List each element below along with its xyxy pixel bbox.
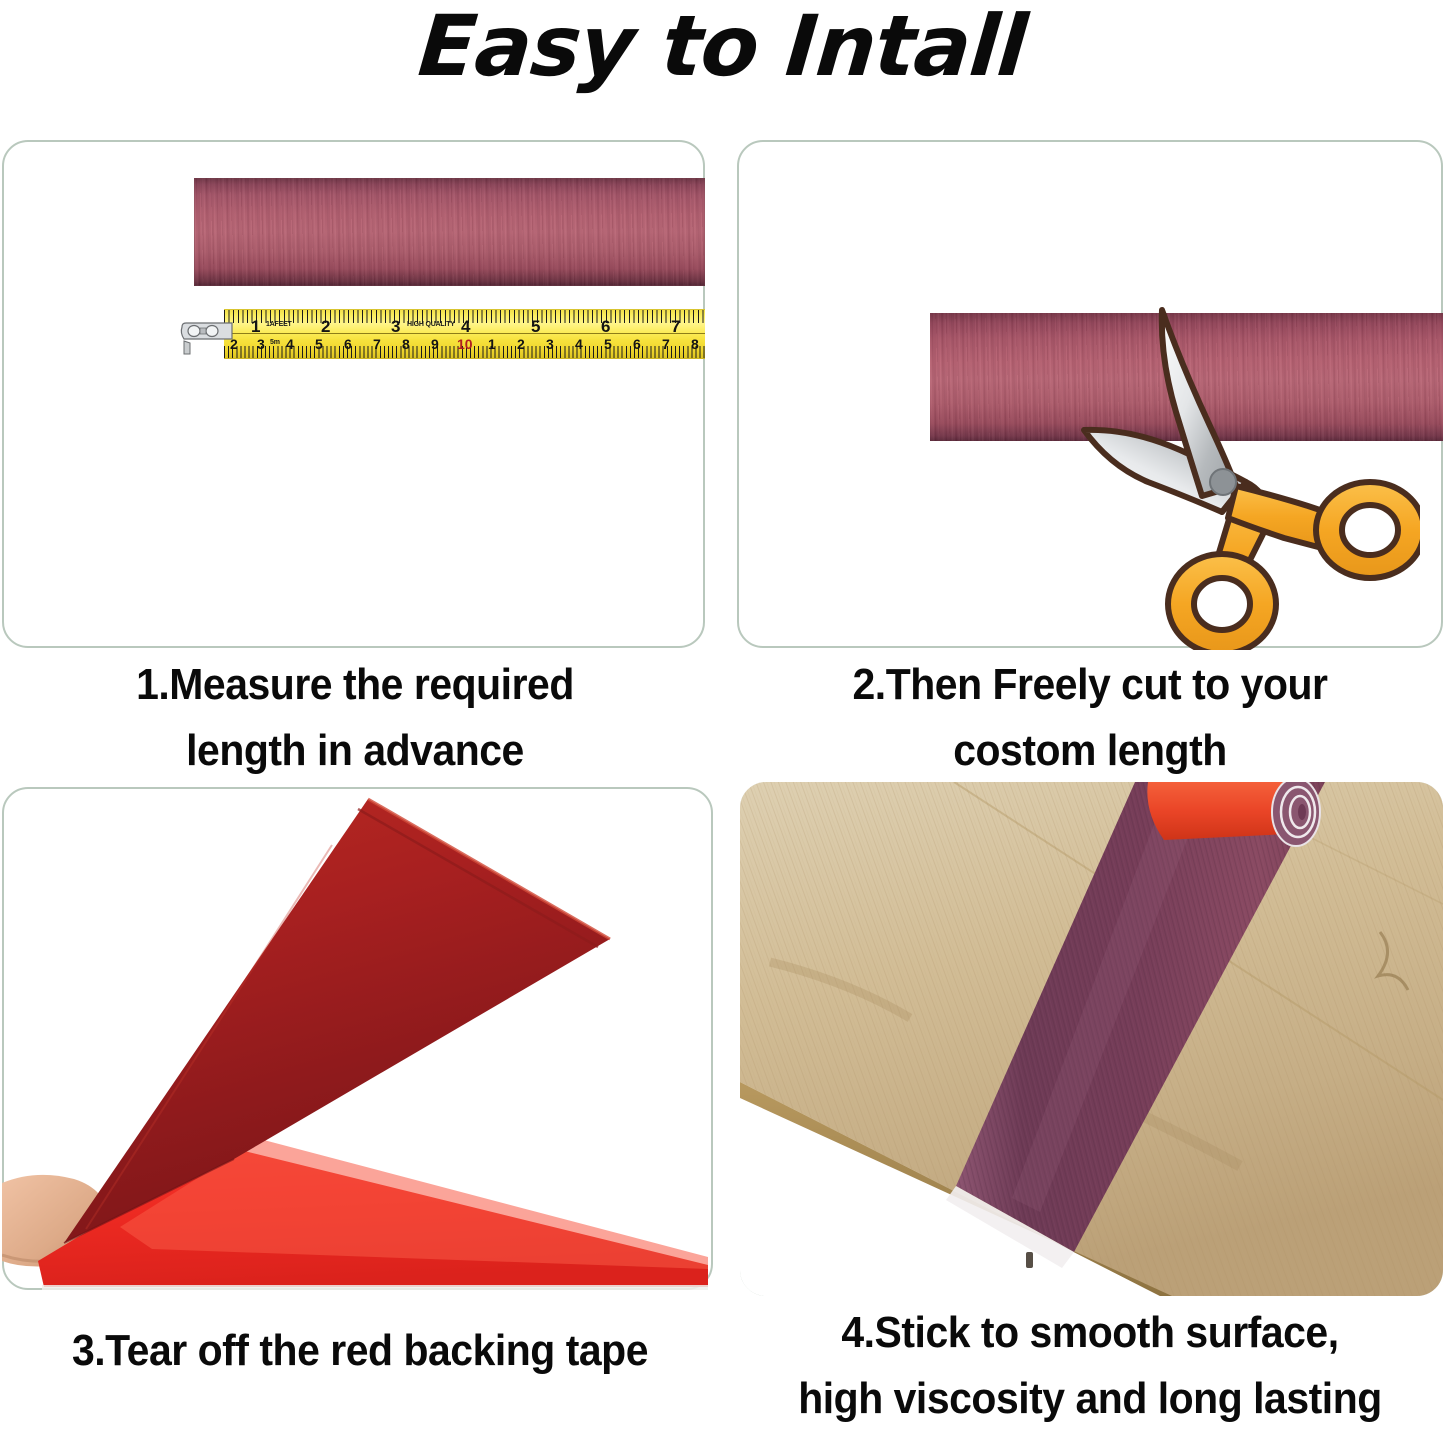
caption-cut: 2.Then Freely cut to your costom length (765, 652, 1416, 784)
caption-line: costom length (765, 718, 1416, 784)
tape-number-top: 5 (531, 318, 540, 335)
tape-number-bottom: 8 (402, 337, 410, 351)
tape-number-bottom: 1 (488, 337, 496, 351)
caption-line: 2.Then Freely cut to your (765, 652, 1416, 718)
scissors-icon (1070, 300, 1420, 650)
tape-number-bottom: 5 (604, 337, 612, 351)
scissors-pivot-icon (1210, 469, 1236, 495)
floor-application-image (740, 782, 1443, 1296)
caption-line: high viscosity and long lasting (760, 1366, 1420, 1432)
tape-measure-hook-icon (178, 311, 236, 355)
tape-number-bottom: 3 (257, 337, 265, 351)
tape-metric-label: 5m (270, 339, 280, 346)
tape-number-bottom: 2 (517, 337, 525, 351)
tape-number-top: 1 (251, 318, 260, 335)
caption-line: length in advance (43, 718, 666, 784)
tape-number-bottom: 4 (286, 337, 294, 351)
caption-line: 3.Tear off the red backing tape (25, 1318, 695, 1384)
tape-measure-image: 1 2 3 4 5 6 7 1AFEET HIGH QUALITY 2 3 5m… (178, 309, 705, 357)
page-title: Easy to Intall (0, 2, 1445, 90)
tape-number-bottom: 3 (546, 337, 554, 351)
tape-number-top: 3 (391, 318, 400, 335)
tape-number-top: 4 (461, 318, 470, 335)
tape-number-bottom: 7 (662, 337, 670, 351)
tape-roll (1147, 782, 1320, 846)
caption-tear: 3.Tear off the red backing tape (25, 1318, 695, 1384)
tape-brand-label: 1AFEET (266, 321, 292, 328)
tape-number-top: 7 (671, 318, 680, 335)
caption-measure: 1.Measure the required length in advance (43, 652, 666, 784)
tape-number-bottom: 6 (344, 337, 352, 351)
tape-body: 1 2 3 4 5 6 7 1AFEET HIGH QUALITY 2 3 5m… (224, 309, 705, 359)
tape-number-bottom: 6 (633, 337, 641, 351)
tape-number-bottom: 5 (315, 337, 323, 351)
tape-number-bottom: 10 (457, 337, 473, 351)
tape-number-bottom: 8 (691, 337, 699, 351)
wood-strip-image (194, 178, 705, 286)
caption-line: 4.Stick to smooth surface, (760, 1300, 1420, 1366)
caption-line: 1.Measure the required (43, 652, 666, 718)
tape-number-bottom: 9 (431, 337, 439, 351)
tape-number-bottom: 7 (373, 337, 381, 351)
tape-quality-label: HIGH QUALITY (407, 321, 455, 328)
tape-number-bottom: 4 (575, 337, 583, 351)
tape-number-top: 2 (321, 318, 330, 335)
peeling-tape-image (2, 787, 713, 1290)
tape-number-top: 6 (601, 318, 610, 335)
caption-stick: 4.Stick to smooth surface, high viscosit… (760, 1300, 1420, 1432)
